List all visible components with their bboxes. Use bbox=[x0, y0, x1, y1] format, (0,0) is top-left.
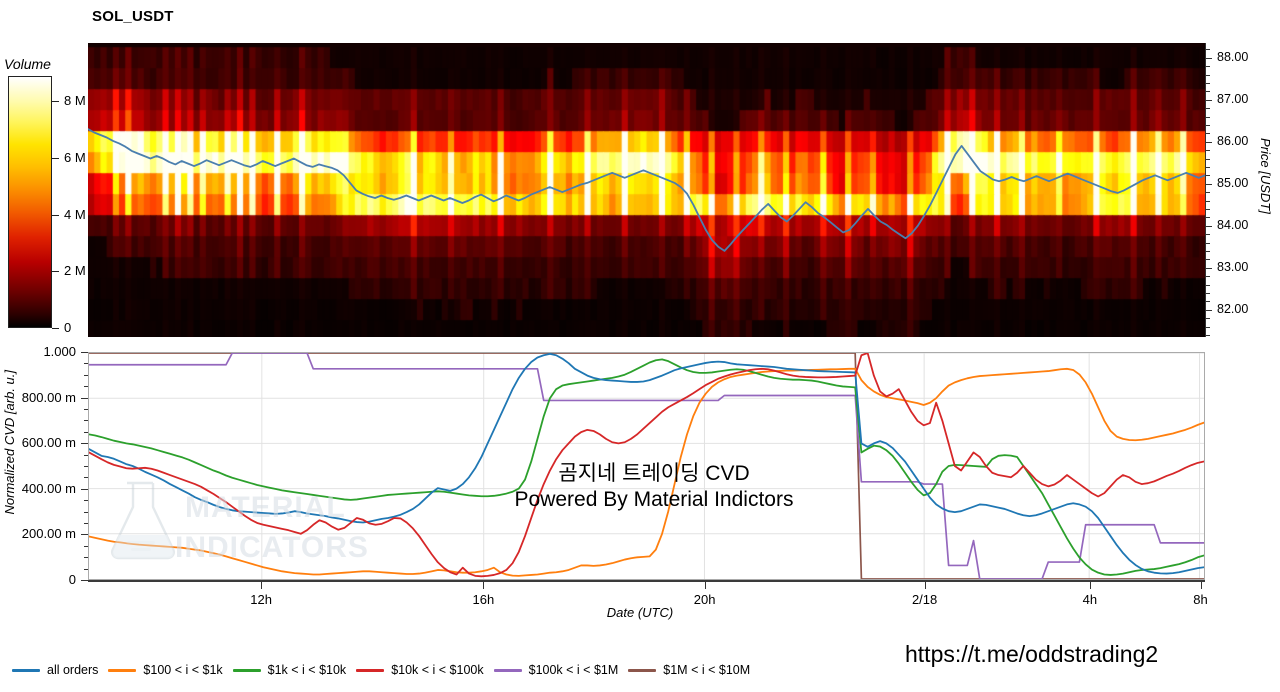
colorbar-tick bbox=[52, 101, 59, 102]
legend-swatch bbox=[12, 669, 40, 672]
colorbar-tick-label: 4 M bbox=[64, 207, 86, 222]
volume-heatmap[interactable] bbox=[88, 43, 1205, 337]
price-axis-minor-tick bbox=[1206, 234, 1210, 235]
cvd-y-axis: 1.000800.00 m600.00 m400.00 m200.00 m0 bbox=[18, 352, 88, 580]
overlay-line1: 곰지네 트레이딩 CVD bbox=[444, 461, 864, 487]
price-axis-minor-tick bbox=[1206, 159, 1210, 160]
price-axis-tick-label: 87.00 bbox=[1217, 92, 1248, 106]
page-title: SOL_USDT bbox=[92, 8, 174, 25]
price-axis-tick bbox=[1206, 58, 1212, 59]
flask-icon bbox=[113, 535, 174, 558]
legend-item[interactable]: all orders bbox=[12, 663, 98, 677]
overlay-line2: Powered By Material Indictors bbox=[444, 487, 864, 513]
price-axis-minor-tick bbox=[1206, 217, 1210, 218]
cvd-axis-minor-tick bbox=[84, 557, 88, 558]
price-axis-tick-label: 88.00 bbox=[1217, 50, 1248, 64]
price-axis-minor-tick bbox=[1206, 49, 1210, 50]
cvd-axis-minor-tick bbox=[84, 363, 88, 364]
material-indicators-watermark: MATERIAL INDICATORS bbox=[97, 473, 377, 568]
cvd-axis-minor-tick bbox=[84, 500, 88, 501]
cvd-y-axis-title: Normalized CVD [arb. u.] bbox=[2, 370, 17, 515]
cvd-axis-tick bbox=[81, 489, 88, 490]
cvd-axis-minor-tick bbox=[84, 523, 88, 524]
price-axis-tick-label: 85.00 bbox=[1217, 176, 1248, 190]
cvd-axis-minor-tick bbox=[84, 512, 88, 513]
cvd-axis-minor-tick bbox=[84, 409, 88, 410]
legend: all orders$100 < i < $1k$1k < i < $10k$1… bbox=[12, 663, 1268, 677]
price-axis-minor-tick bbox=[1206, 243, 1210, 244]
legend-swatch bbox=[108, 669, 136, 672]
price-axis-tick bbox=[1206, 184, 1212, 185]
colorbar-tick bbox=[52, 158, 59, 159]
price-axis-minor-tick bbox=[1206, 125, 1210, 126]
volume-colorbar: 8 M6 M4 M2 M0 bbox=[8, 76, 52, 328]
price-axis-minor-tick bbox=[1206, 327, 1210, 328]
price-axis-title: Price [USDT] bbox=[1258, 138, 1273, 214]
colorbar-tick-label: 6 M bbox=[64, 150, 86, 165]
cvd-axis-tick-label: 1.000 bbox=[43, 344, 76, 359]
price-axis-minor-tick bbox=[1206, 66, 1210, 67]
legend-label: all orders bbox=[47, 663, 98, 677]
legend-label: $100 < i < $1k bbox=[143, 663, 222, 677]
colorbar-tick-label: 2 M bbox=[64, 263, 86, 278]
price-axis-minor-tick bbox=[1206, 335, 1210, 336]
legend-swatch bbox=[628, 669, 656, 672]
colorbar-tick bbox=[52, 215, 59, 216]
colorbar-gradient bbox=[8, 76, 52, 328]
cvd-axis-tick-label: 200.00 m bbox=[22, 526, 76, 541]
price-axis-minor-tick bbox=[1206, 318, 1210, 319]
price-axis-tick-label: 82.00 bbox=[1217, 302, 1248, 316]
cvd-axis-minor-tick bbox=[84, 420, 88, 421]
watermark-line1: MATERIAL bbox=[185, 491, 346, 524]
cvd-axis-tick bbox=[81, 580, 88, 581]
price-axis-minor-tick bbox=[1206, 75, 1210, 76]
x-axis-tick bbox=[1201, 582, 1202, 589]
cvd-axis-minor-tick bbox=[84, 375, 88, 376]
colorbar-tick bbox=[52, 328, 59, 329]
price-axis-minor-tick bbox=[1206, 91, 1210, 92]
x-axis-tick bbox=[1090, 582, 1091, 589]
price-axis-minor-tick bbox=[1206, 133, 1210, 134]
price-axis-minor-tick bbox=[1206, 192, 1210, 193]
legend-item[interactable]: $100k < i < $1M bbox=[494, 663, 619, 677]
x-axis-tick bbox=[261, 582, 262, 589]
cvd-axis-minor-tick bbox=[84, 569, 88, 570]
legend-item[interactable]: $1M < i < $10M bbox=[628, 663, 750, 677]
legend-label: $100k < i < $1M bbox=[529, 663, 619, 677]
price-axis-tick bbox=[1206, 226, 1212, 227]
x-axis-tick bbox=[925, 582, 926, 589]
price-axis-tick-label: 84.00 bbox=[1217, 218, 1248, 232]
price-axis-minor-tick bbox=[1206, 301, 1210, 302]
price-axis-minor-tick bbox=[1206, 293, 1210, 294]
cvd-axis-minor-tick bbox=[84, 432, 88, 433]
price-axis-minor-tick bbox=[1206, 285, 1210, 286]
colorbar-tick bbox=[52, 271, 59, 272]
cvd-chart-panel[interactable]: MATERIAL INDICATORS 곰지네 트레이딩 CVD Powered… bbox=[88, 352, 1205, 580]
cvd-axis-tick bbox=[81, 534, 88, 535]
price-axis-tick-label: 83.00 bbox=[1217, 260, 1248, 274]
price-axis-minor-tick bbox=[1206, 117, 1210, 118]
x-axis-tick bbox=[483, 582, 484, 589]
colorbar-title: Volume bbox=[4, 56, 51, 72]
cvd-axis-minor-tick bbox=[84, 455, 88, 456]
price-axis-minor-tick bbox=[1206, 259, 1210, 260]
legend-swatch bbox=[494, 669, 522, 672]
legend-swatch bbox=[356, 669, 384, 672]
price-axis-tick bbox=[1206, 310, 1212, 311]
cvd-axis-tick bbox=[81, 352, 88, 353]
cvd-axis-tick-label: 0 bbox=[69, 572, 76, 587]
price-axis-minor-tick bbox=[1206, 175, 1210, 176]
cvd-axis-tick bbox=[81, 443, 88, 444]
x-axis-spine bbox=[88, 580, 1205, 582]
price-axis-tick bbox=[1206, 100, 1212, 101]
legend-swatch bbox=[233, 669, 261, 672]
cvd-axis-tick-label: 400.00 m bbox=[22, 481, 76, 496]
price-axis-minor-tick bbox=[1206, 201, 1210, 202]
x-axis-title: Date (UTC) bbox=[0, 605, 1280, 620]
x-axis-tick bbox=[705, 582, 706, 589]
cvd-axis-minor-tick bbox=[84, 386, 88, 387]
colorbar-tick-label: 0 bbox=[64, 320, 71, 335]
overlay-caption: 곰지네 트레이딩 CVD Powered By Material Indicto… bbox=[444, 461, 864, 512]
cvd-axis-tick-label: 800.00 m bbox=[22, 390, 76, 405]
cvd-axis-minor-tick bbox=[84, 466, 88, 467]
legend-item[interactable]: $1k < i < $10k bbox=[233, 663, 347, 677]
price-axis-minor-tick bbox=[1206, 150, 1210, 151]
price-axis-tick-label: 86.00 bbox=[1217, 134, 1248, 148]
price-axis-minor-tick bbox=[1206, 209, 1210, 210]
price-axis-minor-tick bbox=[1206, 108, 1210, 109]
legend-label: $1k < i < $10k bbox=[268, 663, 347, 677]
cvd-axis-tick-label: 600.00 m bbox=[22, 435, 76, 450]
legend-label: $10k < i < $100k bbox=[391, 663, 483, 677]
price-axis-minor-tick bbox=[1206, 251, 1210, 252]
price-axis-minor-tick bbox=[1206, 83, 1210, 84]
price-line-overlay bbox=[88, 43, 1205, 337]
price-axis-tick bbox=[1206, 268, 1212, 269]
legend-item[interactable]: $100 < i < $1k bbox=[108, 663, 222, 677]
cvd-axis-minor-tick bbox=[84, 546, 88, 547]
price-axis-minor-tick bbox=[1206, 276, 1210, 277]
legend-label: $1M < i < $10M bbox=[663, 663, 750, 677]
cvd-axis-tick bbox=[81, 398, 88, 399]
price-axis-minor-tick bbox=[1206, 167, 1210, 168]
watermark-line2: INDICATORS bbox=[175, 531, 369, 564]
colorbar-tick-label: 8 M bbox=[64, 93, 86, 108]
legend-item[interactable]: $10k < i < $100k bbox=[356, 663, 483, 677]
price-axis-tick bbox=[1206, 142, 1212, 143]
cvd-axis-minor-tick bbox=[84, 477, 88, 478]
